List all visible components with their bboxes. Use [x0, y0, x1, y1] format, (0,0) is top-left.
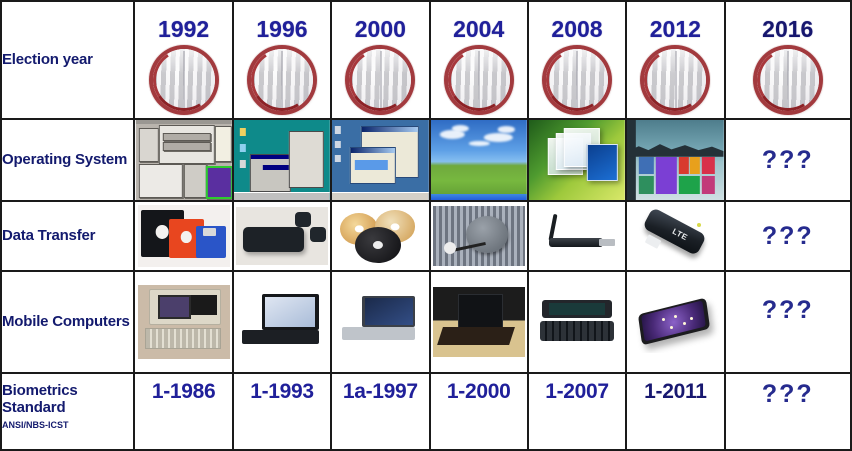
cell-os-1996[interactable] [233, 119, 331, 201]
cell-bio-2000[interactable]: 1a-1997 [331, 373, 429, 450]
standard-value: 1a-1997 [343, 380, 418, 404]
windows-xp-bliss-icon [431, 120, 527, 200]
standard-value: 1-2000 [447, 380, 511, 404]
row-label-text: Biometrics Standard [2, 382, 78, 416]
ballot-disc-icon [251, 49, 313, 111]
row-label-operating-system: Operating System [1, 119, 134, 201]
cell-bio-2012[interactable]: 1-2011 [626, 373, 724, 450]
row-label-election-year: Election year [1, 1, 134, 119]
row-label-biometrics-standard: Biometrics Standard ANSI/NBS-ICST [1, 373, 134, 450]
cell-os-2016[interactable]: ??? [725, 119, 851, 201]
year-cell-2008[interactable]: 2008 [528, 1, 626, 119]
cell-mobile-2012[interactable] [626, 271, 724, 373]
year-cell-2004[interactable]: 2004 [430, 1, 528, 119]
table-row-mobile-computers: Mobile Computers [1, 271, 851, 373]
unknown-marker: ??? [762, 222, 814, 251]
floppy-disks-icon [135, 202, 231, 270]
standard-value: 1-2007 [545, 380, 609, 404]
standard-value: 1-2011 [644, 380, 706, 404]
cell-mobile-2016[interactable]: ??? [725, 271, 851, 373]
cell-os-2008[interactable] [528, 119, 626, 201]
cell-bio-2004[interactable]: 1-2000 [430, 373, 528, 450]
cell-data-2016[interactable]: ??? [725, 201, 851, 271]
ballot-disc-icon [448, 49, 510, 111]
cell-data-2000[interactable] [331, 201, 429, 271]
cell-bio-1992[interactable]: 1-1986 [134, 373, 232, 450]
unknown-marker: ??? [762, 296, 814, 325]
windows-95-desktop-icon [234, 120, 330, 200]
ballot-disc-icon [153, 49, 215, 111]
timeline-matrix: Election year 1992 1996 2000 2004 2008 2… [0, 0, 852, 449]
cell-bio-1996[interactable]: 1-1993 [233, 373, 331, 450]
tablet-icon [627, 272, 723, 372]
zip-drive-icon [234, 202, 330, 270]
table-row-election-year: Election year 1992 1996 2000 2004 2008 2… [1, 1, 851, 119]
year-cell-1996[interactable]: 1996 [233, 1, 331, 119]
cell-mobile-2000[interactable] [331, 271, 429, 373]
cell-data-2004[interactable] [430, 201, 528, 271]
cell-data-1996[interactable] [233, 201, 331, 271]
year-label: 2008 [529, 16, 625, 43]
cell-mobile-2008[interactable] [528, 271, 626, 373]
lte-usb-modem-icon: LTE [627, 202, 723, 270]
cell-os-2012[interactable] [626, 119, 724, 201]
ballot-disc-icon [644, 49, 706, 111]
standard-value: 1-1986 [152, 380, 216, 404]
table-row-operating-system: Operating System [1, 119, 851, 201]
year-cell-2000[interactable]: 2000 [331, 1, 429, 119]
unknown-marker: ??? [762, 380, 814, 409]
windows-2000-desktop-icon [332, 120, 428, 200]
windows-3x-desktop-icon [135, 120, 231, 200]
technology-timeline-table: Election year 1992 1996 2000 2004 2008 2… [0, 0, 852, 451]
cell-bio-2016[interactable]: ??? [725, 373, 851, 450]
communicator-handheld-icon [529, 272, 625, 372]
year-cell-2012[interactable]: 2012 [626, 1, 724, 119]
table-row-data-transfer: Data Transfer [1, 201, 851, 271]
standard-value: 1-1993 [250, 380, 314, 404]
unknown-marker: ??? [762, 146, 814, 175]
year-label: 1992 [135, 16, 231, 43]
cell-os-2004[interactable] [430, 119, 528, 201]
silver-laptop-icon [332, 272, 428, 372]
ballot-disc-icon [349, 49, 411, 111]
unknown-cell: ??? [726, 202, 850, 270]
netbook-icon [431, 272, 527, 372]
year-cell-2016[interactable]: 2016 [725, 1, 851, 119]
year-cell-1992[interactable]: 1992 [134, 1, 232, 119]
unknown-cell: ??? [726, 120, 850, 200]
cell-data-1992[interactable] [134, 201, 232, 271]
year-label: 1996 [234, 16, 330, 43]
black-laptop-icon [234, 272, 330, 372]
cell-os-1992[interactable] [134, 119, 232, 201]
cell-data-2008[interactable] [528, 201, 626, 271]
row-label-mobile-computers: Mobile Computers [1, 271, 134, 373]
cell-data-2012[interactable]: LTE [626, 201, 724, 271]
year-label: 2012 [627, 16, 723, 43]
year-label: 2016 [726, 16, 850, 43]
table-row-biometrics-standard: Biometrics Standard ANSI/NBS-ICST 1-1986… [1, 373, 851, 450]
satellite-dish-icon [431, 202, 527, 270]
cell-bio-2008[interactable]: 1-2007 [528, 373, 626, 450]
year-label: 2000 [332, 16, 428, 43]
row-label-text: Mobile Computers [2, 313, 130, 330]
row-label-text: Election year [2, 51, 93, 68]
row-label-data-transfer: Data Transfer [1, 201, 134, 271]
cell-os-2000[interactable] [331, 119, 429, 201]
row-label-text: Operating System [2, 151, 127, 168]
year-label: 2004 [431, 16, 527, 43]
windows-vista-aero-icon [529, 120, 625, 200]
row-sublabel-text: ANSI/NBS-ICST [2, 420, 133, 430]
portable-luggable-computer-icon [135, 272, 231, 372]
windows-8-start-tiles-icon [627, 120, 723, 200]
row-label-text: Data Transfer [2, 227, 95, 244]
cell-mobile-1996[interactable] [233, 271, 331, 373]
ballot-disc-icon [757, 49, 819, 111]
cell-mobile-2004[interactable] [430, 271, 528, 373]
ballot-disc-icon [546, 49, 608, 111]
compact-discs-icon [332, 202, 428, 270]
unknown-cell: ??? [726, 272, 850, 372]
cell-mobile-1992[interactable] [134, 271, 232, 373]
usb-wifi-adapter-icon [529, 202, 625, 270]
